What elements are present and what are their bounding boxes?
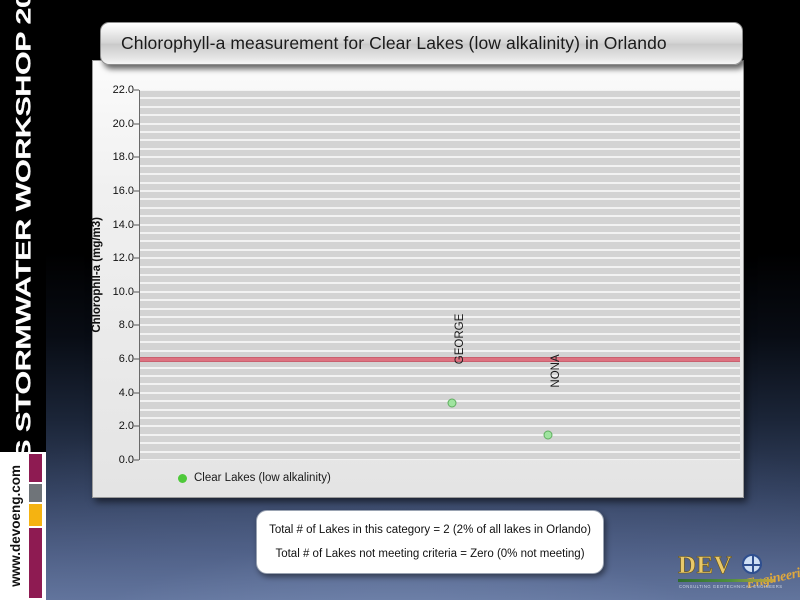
gridline bbox=[140, 442, 740, 444]
y-axis-title: Chlorophll-a (mg/m3) bbox=[88, 90, 106, 460]
gridline bbox=[140, 165, 740, 167]
gridline bbox=[140, 434, 740, 436]
y-axis-tick-mark bbox=[134, 157, 139, 158]
gridline bbox=[140, 400, 740, 402]
gridline bbox=[140, 324, 740, 326]
y-axis-tick-mark bbox=[134, 291, 139, 292]
gridline bbox=[140, 367, 740, 369]
callout-line-total-lakes: Total # of Lakes in this category = 2 (2… bbox=[269, 524, 591, 536]
gridline bbox=[140, 282, 740, 284]
page-title: Chlorophyll-a measurement for Clear Lake… bbox=[121, 33, 667, 54]
legend-label: Clear Lakes (low alkalinity) bbox=[194, 472, 331, 484]
gridline bbox=[140, 459, 740, 460]
gridline bbox=[140, 182, 740, 184]
globe-icon bbox=[742, 554, 762, 574]
gridline bbox=[140, 190, 740, 192]
y-axis-tick-mark bbox=[134, 426, 139, 427]
sidebar-bar-maroon-bottom bbox=[29, 528, 42, 598]
gridline bbox=[140, 207, 740, 209]
criteria-threshold-line bbox=[140, 357, 740, 362]
y-axis-tick-mark bbox=[134, 123, 139, 124]
gridline bbox=[140, 316, 740, 318]
gridline bbox=[140, 106, 740, 108]
callout-line-not-meeting: Total # of Lakes not meeting criteria = … bbox=[275, 548, 584, 560]
gridline bbox=[140, 266, 740, 268]
gridline bbox=[140, 123, 740, 125]
gridline bbox=[140, 139, 740, 141]
gridline bbox=[140, 425, 740, 427]
y-axis-tick-mark bbox=[134, 392, 139, 393]
chart-title-bar: Chlorophyll-a measurement for Clear Lake… bbox=[100, 22, 743, 65]
gridline bbox=[140, 156, 740, 158]
logo-subtitle: CONSULTING GEOTECHNICAL ENGINEERS bbox=[679, 584, 783, 589]
sidebar-bar-maroon-top bbox=[29, 454, 42, 482]
gridline bbox=[140, 375, 740, 377]
logo-wordmark: DEV bbox=[678, 552, 732, 580]
y-axis-title-text: Chlorophll-a (mg/m3) bbox=[91, 217, 103, 333]
legend-marker-icon bbox=[178, 474, 187, 483]
gridline bbox=[140, 291, 740, 293]
gridline bbox=[140, 148, 740, 150]
gridline bbox=[140, 198, 740, 200]
data-point[interactable] bbox=[544, 430, 553, 439]
gridline bbox=[140, 308, 740, 310]
gridline bbox=[140, 97, 740, 99]
y-axis-tick-mark bbox=[134, 258, 139, 259]
y-axis-tick-mark bbox=[134, 190, 139, 191]
sidebar: FES STORMWATER WORKSHOP 2010 www.devoeng… bbox=[0, 0, 46, 600]
logo-divider-bar bbox=[678, 579, 774, 582]
gridline bbox=[140, 257, 740, 259]
gridline bbox=[140, 224, 740, 226]
gridline bbox=[140, 240, 740, 242]
summary-callout: Total # of Lakes in this category = 2 (2… bbox=[256, 510, 604, 574]
gridline bbox=[140, 215, 740, 217]
gridline bbox=[140, 333, 740, 335]
gridline bbox=[140, 131, 740, 133]
data-point-label: NONA bbox=[550, 354, 562, 387]
gridline bbox=[140, 173, 740, 175]
y-axis-tick-mark bbox=[134, 460, 139, 461]
gridline bbox=[140, 249, 740, 251]
gridline bbox=[140, 341, 740, 343]
y-axis-tick-mark bbox=[134, 224, 139, 225]
sidebar-workshop-title-text: FES STORMWATER WORKSHOP 2010 bbox=[10, 0, 35, 500]
sidebar-color-bars bbox=[29, 452, 42, 600]
y-axis-tick-mark bbox=[134, 90, 139, 91]
sidebar-bar-gold bbox=[29, 504, 42, 526]
plot-area: GEORGENONA bbox=[140, 90, 740, 460]
gridline bbox=[140, 409, 740, 411]
gridline bbox=[140, 383, 740, 385]
y-axis-line bbox=[139, 90, 140, 460]
gridline bbox=[140, 274, 740, 276]
y-axis-tick-mark bbox=[134, 359, 139, 360]
gridline bbox=[140, 417, 740, 419]
gridline bbox=[140, 114, 740, 116]
data-point-label: GEORGE bbox=[454, 314, 466, 364]
gridline bbox=[140, 232, 740, 234]
gridline bbox=[140, 299, 740, 301]
sidebar-bar-gray bbox=[29, 484, 42, 502]
devo-engineering-logo: DEV Engineering CONSULTING GEOTECHNICAL … bbox=[676, 548, 792, 594]
sidebar-website-url-text: www.devoeng.com bbox=[8, 465, 23, 587]
sidebar-website-url[interactable]: www.devoeng.com bbox=[0, 452, 30, 600]
gridline bbox=[140, 350, 740, 352]
data-point[interactable] bbox=[448, 398, 457, 407]
gridline bbox=[140, 392, 740, 394]
gridline bbox=[140, 90, 740, 91]
gridline bbox=[140, 451, 740, 453]
y-axis-tick-mark bbox=[134, 325, 139, 326]
gridlines bbox=[140, 90, 740, 460]
chart-legend: Clear Lakes (low alkalinity) bbox=[178, 472, 331, 484]
sidebar-workshop-title: FES STORMWATER WORKSHOP 2010 bbox=[0, 0, 46, 452]
